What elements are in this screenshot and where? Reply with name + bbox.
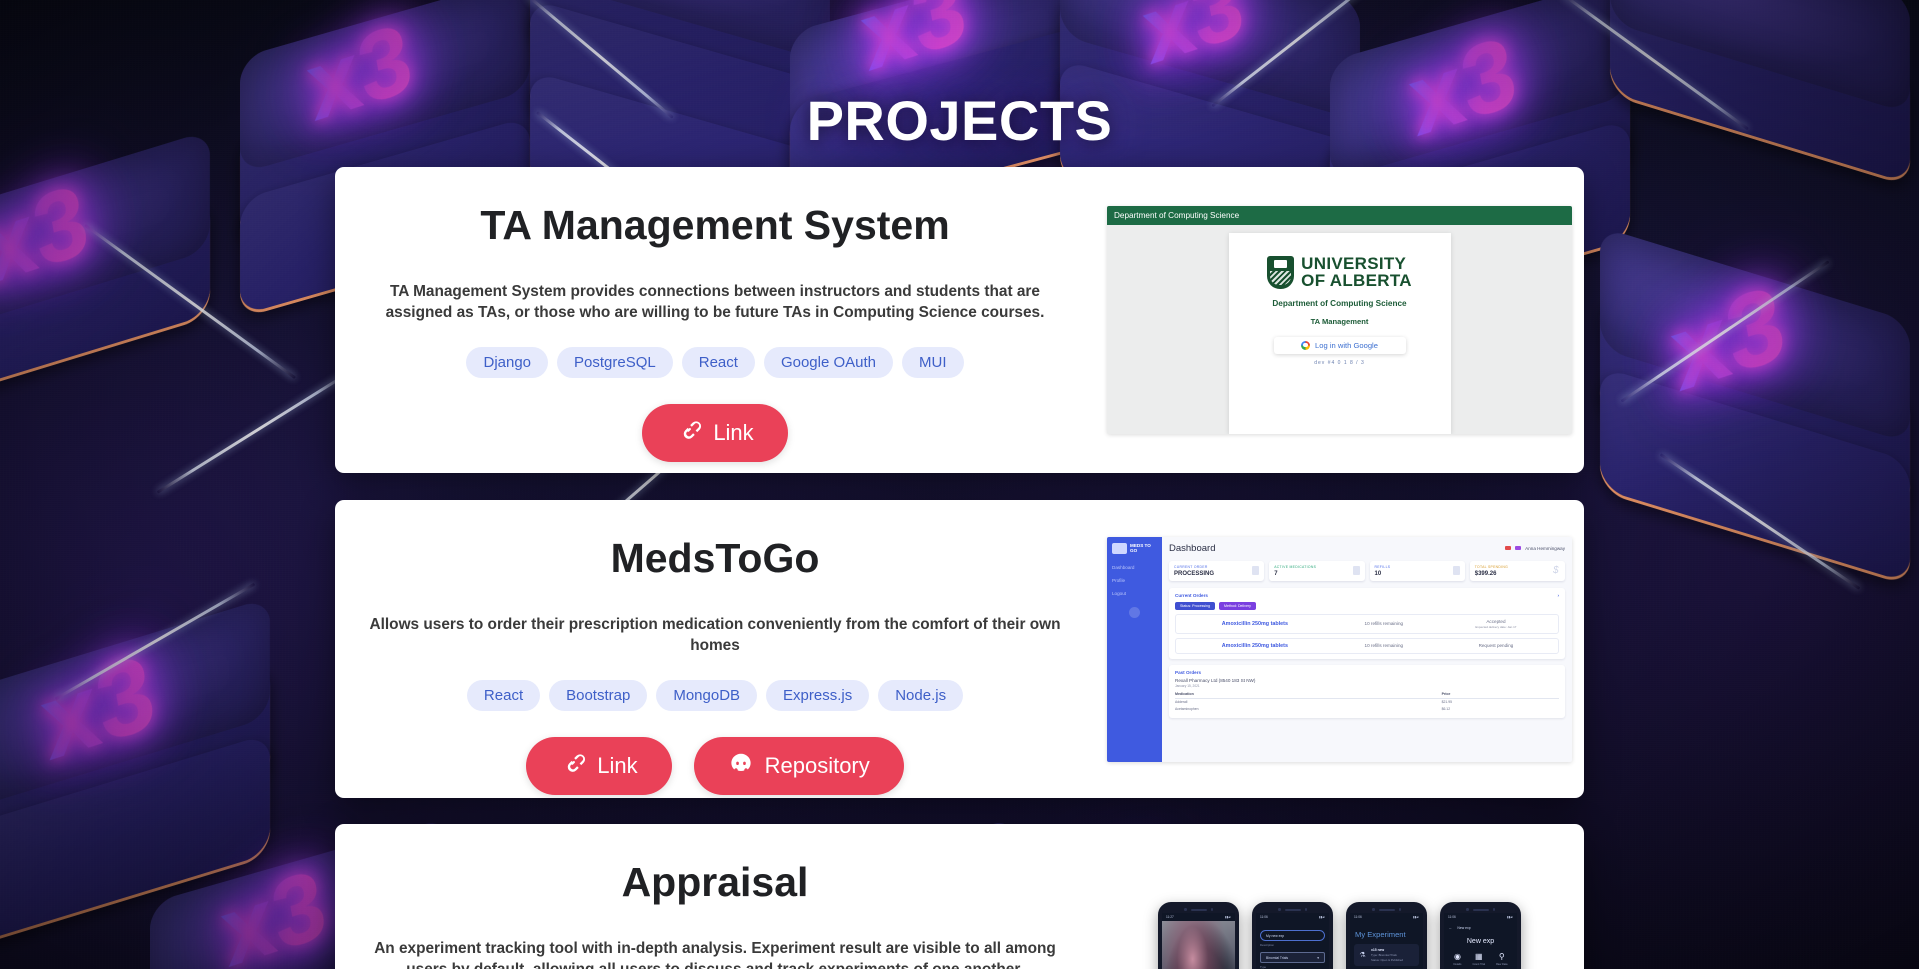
- filter-chip-status[interactable]: Status: Processing: [1175, 602, 1215, 610]
- refill-icon: [1453, 566, 1460, 575]
- ua-footer-note: dev #4 0 1 8 / 3: [1239, 360, 1441, 366]
- stat-label: CURRENT ORDER: [1174, 565, 1214, 569]
- order-row: Amoxicillin 250mg tablets 10 refills rem…: [1175, 614, 1559, 634]
- order-medication: Amoxicillin 250mg tablets: [1182, 621, 1328, 627]
- tech-tag-list: Django PostgreSQL React Google OAuth MUI: [466, 347, 963, 378]
- tab-raw-data[interactable]: ⚲ Raw Data: [1496, 952, 1507, 966]
- experiment-type-select[interactable]: Binomial Trials ▾: [1260, 952, 1325, 963]
- phone-mockup: 11:06 ▮▮▰ ← New exp New exp ◉ Details: [1440, 902, 1521, 969]
- pin-icon: ⚲: [1496, 952, 1507, 961]
- project-description: Allows users to order their prescription…: [365, 614, 1065, 657]
- tab-count-trial[interactable]: ▦ Count Trial: [1472, 952, 1485, 966]
- stat-value: 10: [1375, 571, 1391, 577]
- phone-splash-screen: [1162, 921, 1235, 969]
- order-note: Expected delivery date: Jan 17: [1440, 625, 1552, 629]
- grid-icon: ▦: [1472, 952, 1485, 961]
- project-preview: 11:27 ▮▮▰ 11:06 ▮▮▰ My new exp Descripti…: [1095, 824, 1584, 969]
- page-title: PROJECTS: [0, 88, 1919, 153]
- circle-icon: ◉: [1454, 952, 1462, 961]
- stat-label: ACTIVE MEDICATIONS: [1274, 565, 1316, 569]
- experiment-title: x15 new: [1371, 948, 1403, 952]
- order-status: Accepted: [1486, 619, 1505, 624]
- google-login-label: Log in with Google: [1315, 341, 1378, 350]
- phone-time: 11:06: [1354, 915, 1362, 919]
- tech-tag: React: [467, 680, 540, 711]
- ua-logo-line1: UNIVERSITY: [1301, 255, 1412, 272]
- detail-heading: New exp: [1448, 938, 1513, 945]
- notification-icon: [1505, 546, 1511, 550]
- cell-medication: Adderall: [1175, 698, 1442, 706]
- stat-value: PROCESSING: [1174, 571, 1214, 577]
- project-title: MedsToGo: [611, 536, 820, 582]
- phone-time: 11:06: [1260, 915, 1268, 919]
- dashboard-main: Dashboard Anna Hemmingway CURRENT ORDER …: [1162, 537, 1572, 762]
- phone-signal-icon: ▮▮▰: [1319, 915, 1325, 919]
- ua-subtitle: TA Management: [1239, 317, 1441, 326]
- order-refills: 10 refills remaining: [1328, 643, 1440, 648]
- tab-label: Raw Data: [1496, 963, 1507, 966]
- past-orders-table: Medication Price Adderall $21.95 Acetami…: [1175, 691, 1559, 713]
- tech-tag: Django: [466, 347, 548, 378]
- phone-signal-icon: ▮▮▰: [1413, 915, 1419, 919]
- ua-department: Department of Computing Science: [1239, 299, 1441, 308]
- phone-mockup: 11:27 ▮▮▰: [1158, 902, 1239, 969]
- order-status: Request pending: [1479, 643, 1514, 648]
- past-orders-panel: Past Orders Rexall Pharmacy Ltd (8540 18…: [1169, 665, 1565, 718]
- project-actions: Link: [642, 404, 787, 462]
- tech-tag: Express.js: [766, 680, 869, 711]
- preview-appraisal-phones: 11:27 ▮▮▰ 11:06 ▮▮▰ My new exp Descripti…: [1158, 902, 1521, 969]
- project-card: MedsToGo Allows users to order their pre…: [335, 500, 1584, 798]
- stat-label: REFILLS: [1375, 565, 1391, 569]
- experiment-status: Status: Open & Published: [1371, 958, 1403, 962]
- pill-icon: [1353, 566, 1360, 575]
- tech-tag: Google OAuth: [764, 347, 893, 378]
- link-button[interactable]: Link: [526, 737, 671, 795]
- sidebar-item-profile[interactable]: Profile: [1112, 578, 1157, 583]
- table-row: Acetaminophen $6.12: [1175, 706, 1559, 713]
- stat-value: 7: [1274, 571, 1316, 577]
- dollar-icon: $: [1553, 566, 1560, 575]
- phone-time: 11:27: [1166, 915, 1174, 919]
- sidebar-item-dashboard[interactable]: Dashboard: [1112, 565, 1157, 570]
- column-header-medication: Medication: [1175, 691, 1442, 699]
- tab-label: Count Trial: [1472, 963, 1485, 966]
- tab-details[interactable]: ◉ Details: [1454, 952, 1462, 966]
- project-title: Appraisal: [622, 860, 809, 906]
- phone-mockup: 11:06 ▮▮▰ My Experiment ⚗ x15 new Type: …: [1346, 902, 1427, 969]
- my-experiment-heading: My Experiment: [1355, 930, 1419, 939]
- phone-signal-icon: ▮▮▰: [1507, 915, 1513, 919]
- chevron-down-icon[interactable]: ›: [1557, 593, 1559, 598]
- project-card: TA Management System TA Management Syste…: [335, 167, 1584, 473]
- project-preview: Department of Computing Science UNIVERSI…: [1095, 167, 1584, 473]
- github-icon: [728, 750, 754, 782]
- dashboard-heading: Dashboard: [1169, 543, 1215, 554]
- ua-topbar: Department of Computing Science: [1107, 206, 1572, 225]
- preview-ua-login: Department of Computing Science UNIVERSI…: [1107, 206, 1572, 434]
- order-refills: 10 refills remaining: [1328, 621, 1440, 626]
- preview-medstogo-dashboard: MEDS TO GO Dashboard Profile Logout Dash…: [1107, 537, 1572, 762]
- repository-button-label: Repository: [765, 753, 870, 779]
- stat-label: TOTAL SPENDING: [1475, 565, 1508, 569]
- medstogo-logo-icon: [1112, 543, 1127, 554]
- phone-mockup: 11:06 ▮▮▰ My new exp Description Binomia…: [1252, 902, 1333, 969]
- dashboard-brand: MEDS TO GO: [1130, 543, 1157, 553]
- past-order-date: January 15, 2021: [1175, 684, 1559, 688]
- link-icon: [560, 750, 586, 782]
- clipboard-icon: [1252, 566, 1259, 575]
- link-icon: [676, 417, 702, 449]
- description-label: Description: [1260, 943, 1325, 947]
- experiment-name-input[interactable]: My new exp: [1260, 930, 1325, 941]
- google-login-button[interactable]: Log in with Google: [1274, 337, 1406, 354]
- cell-price: $21.95: [1442, 698, 1559, 706]
- link-button[interactable]: Link: [642, 404, 787, 462]
- tech-tag: MUI: [902, 347, 964, 378]
- cell-price: $6.12: [1442, 706, 1559, 713]
- phone-signal-icon: ▮▮▰: [1225, 915, 1231, 919]
- back-arrow-icon[interactable]: ←: [1449, 926, 1452, 930]
- sidebar-item-logout[interactable]: Logout: [1112, 591, 1157, 596]
- project-actions: Link Repository: [526, 737, 904, 795]
- tech-tag: React: [682, 347, 755, 378]
- tech-tag: MongoDB: [656, 680, 757, 711]
- project-card: Appraisal An experiment tracking tool wi…: [335, 824, 1584, 969]
- link-button-label: Link: [713, 420, 753, 446]
- link-button-label: Link: [597, 753, 637, 779]
- repository-button[interactable]: Repository: [694, 737, 904, 795]
- table-row: Adderall $21.95: [1175, 698, 1559, 706]
- dashboard-sidebar: MEDS TO GO Dashboard Profile Logout: [1107, 537, 1162, 762]
- project-info: Appraisal An experiment tracking tool wi…: [335, 824, 1095, 969]
- tech-tag: Node.js: [878, 680, 963, 711]
- experiment-type: Type: Binomial Trials: [1371, 953, 1403, 957]
- stat-card: REFILLS 10: [1370, 561, 1465, 581]
- stat-card: TOTAL SPENDING $399.26 $: [1470, 561, 1565, 581]
- project-description: An experiment tracking tool with in-dept…: [365, 938, 1065, 969]
- dashboard-username: Anna Hemmingway: [1525, 546, 1565, 551]
- flask-icon: ⚗: [1358, 951, 1367, 959]
- tech-tag: PostgreSQL: [557, 347, 673, 378]
- filter-chip-method[interactable]: Method: Delivery: [1219, 602, 1256, 610]
- column-header-price: Price: [1442, 691, 1559, 699]
- current-orders-panel: Current Orders › Status: Processing Meth…: [1169, 588, 1565, 659]
- tab-label: Details: [1454, 963, 1462, 966]
- stat-card: ACTIVE MEDICATIONS 7: [1269, 561, 1364, 581]
- order-row: Amoxicillin 250mg tablets 10 refills rem…: [1175, 638, 1559, 654]
- project-description: TA Management System provides connection…: [365, 281, 1065, 324]
- current-orders-title: Current Orders: [1175, 593, 1208, 598]
- past-orders-title: Past Orders: [1175, 670, 1559, 675]
- past-pharmacy: Rexall Pharmacy Ltd (8540 183 St NW): [1175, 678, 1559, 683]
- ualberta-shield-icon: [1267, 256, 1294, 289]
- stat-value: $399.26: [1475, 571, 1508, 577]
- phone-time: 11:06: [1448, 915, 1456, 919]
- sidebar-avatar: [1129, 607, 1140, 618]
- messages-icon: [1515, 546, 1521, 550]
- select-value: Binomial Trials: [1266, 956, 1288, 960]
- detail-topbar-title: New exp: [1457, 926, 1470, 930]
- project-info: TA Management System TA Management Syste…: [335, 167, 1095, 462]
- type-label: Type: [1260, 965, 1325, 969]
- project-preview: MEDS TO GO Dashboard Profile Logout Dash…: [1095, 500, 1584, 798]
- experiment-list-item[interactable]: ⚗ x15 new Type: Binomial Trials Status: …: [1354, 944, 1419, 966]
- tech-tag-list: React Bootstrap MongoDB Express.js Node.…: [467, 680, 963, 711]
- tech-tag: Bootstrap: [549, 680, 647, 711]
- stat-card: CURRENT ORDER PROCESSING: [1169, 561, 1264, 581]
- project-title: TA Management System: [480, 203, 949, 249]
- cell-medication: Acetaminophen: [1175, 706, 1442, 713]
- ua-logo-line2: OF ALBERTA: [1301, 272, 1412, 289]
- google-icon: [1301, 341, 1310, 350]
- project-info: MedsToGo Allows users to order their pre…: [335, 500, 1095, 795]
- order-medication: Amoxicillin 250mg tablets: [1182, 643, 1328, 649]
- dashboard-stats: CURRENT ORDER PROCESSING ACTIVE MEDICATI…: [1169, 561, 1565, 581]
- chevron-down-icon: ▾: [1317, 956, 1319, 960]
